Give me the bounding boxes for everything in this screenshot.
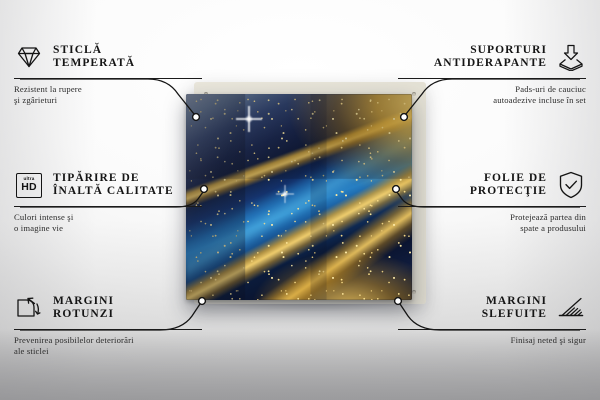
shield-check-icon [556,170,586,200]
feature-title: MARGINI ROTUNZI [53,295,114,321]
feature-divider [14,206,202,207]
feature-description: Rezistent la rupere şi zgârieturi [14,84,202,106]
feature-suporturi-antiderapante[interactable]: SUPORTURI ANTIDERAPANTE Pads-uri de cauc… [398,40,586,106]
feature-description: Prevenirea posibilelor deteriorări ale s… [14,335,202,357]
feature-description: Protejează partea din spate a produsului [398,212,586,234]
feature-header: MARGINI SLEFUITE [398,291,586,325]
feature-sticla-temperata[interactable]: STICLĂ TEMPERATĂ Rezistent la rupere şi … [14,40,202,106]
rounded-corner-icon [14,293,44,323]
adhesive-pad-icon [556,42,586,72]
feature-description: Pads-uri de cauciuc autoadezive incluse … [398,84,586,106]
feature-title: FOLIE DE PROTECŢIE [470,172,547,198]
feature-folie-de-protectie[interactable]: FOLIE DE PROTECŢIE Protejează partea din… [398,168,586,234]
feature-header: ultra HD TIPĂRIRE DE ÎNALTĂ CALITATE [14,168,202,202]
feature-header: SUPORTURI ANTIDERAPANTE [398,40,586,74]
feature-margini-rotunzi[interactable]: MARGINI ROTUNZI Prevenirea posibilelor d… [14,291,202,357]
feature-title: MARGINI SLEFUITE [482,295,547,321]
feature-title: STICLĂ TEMPERATĂ [53,44,135,70]
feature-description: Finisaj neted şi sigur [398,335,586,346]
hd-badge-main-label: HD [21,182,37,193]
feature-divider [398,206,586,207]
feature-title: SUPORTURI ANTIDERAPANTE [434,44,547,70]
polished-edge-icon [556,293,586,323]
connector-dot-sticla-temperata [193,114,200,121]
feature-title: TIPĂRIRE DE ÎNALTĂ CALITATE [53,172,174,198]
feature-divider [14,329,202,330]
feature-divider [14,78,202,79]
feature-margini-slefuite[interactable]: MARGINI SLEFUITE Finisaj neted şi sigur [398,291,586,346]
diamond-icon [14,42,44,72]
connector-dot-antiderapante [401,114,408,121]
feature-header: STICLĂ TEMPERATĂ [14,40,202,74]
feature-tiparire-inalta-calitate[interactable]: ultra HD TIPĂRIRE DE ÎNALTĂ CALITATE Cul… [14,168,202,234]
feature-divider [398,78,586,79]
feature-header: MARGINI ROTUNZI [14,291,202,325]
feature-divider [398,329,586,330]
feature-header: FOLIE DE PROTECŢIE [398,168,586,202]
ultra-hd-icon: ultra HD [14,170,44,200]
feature-description: Culori intense şi o imagine vie [14,212,202,234]
